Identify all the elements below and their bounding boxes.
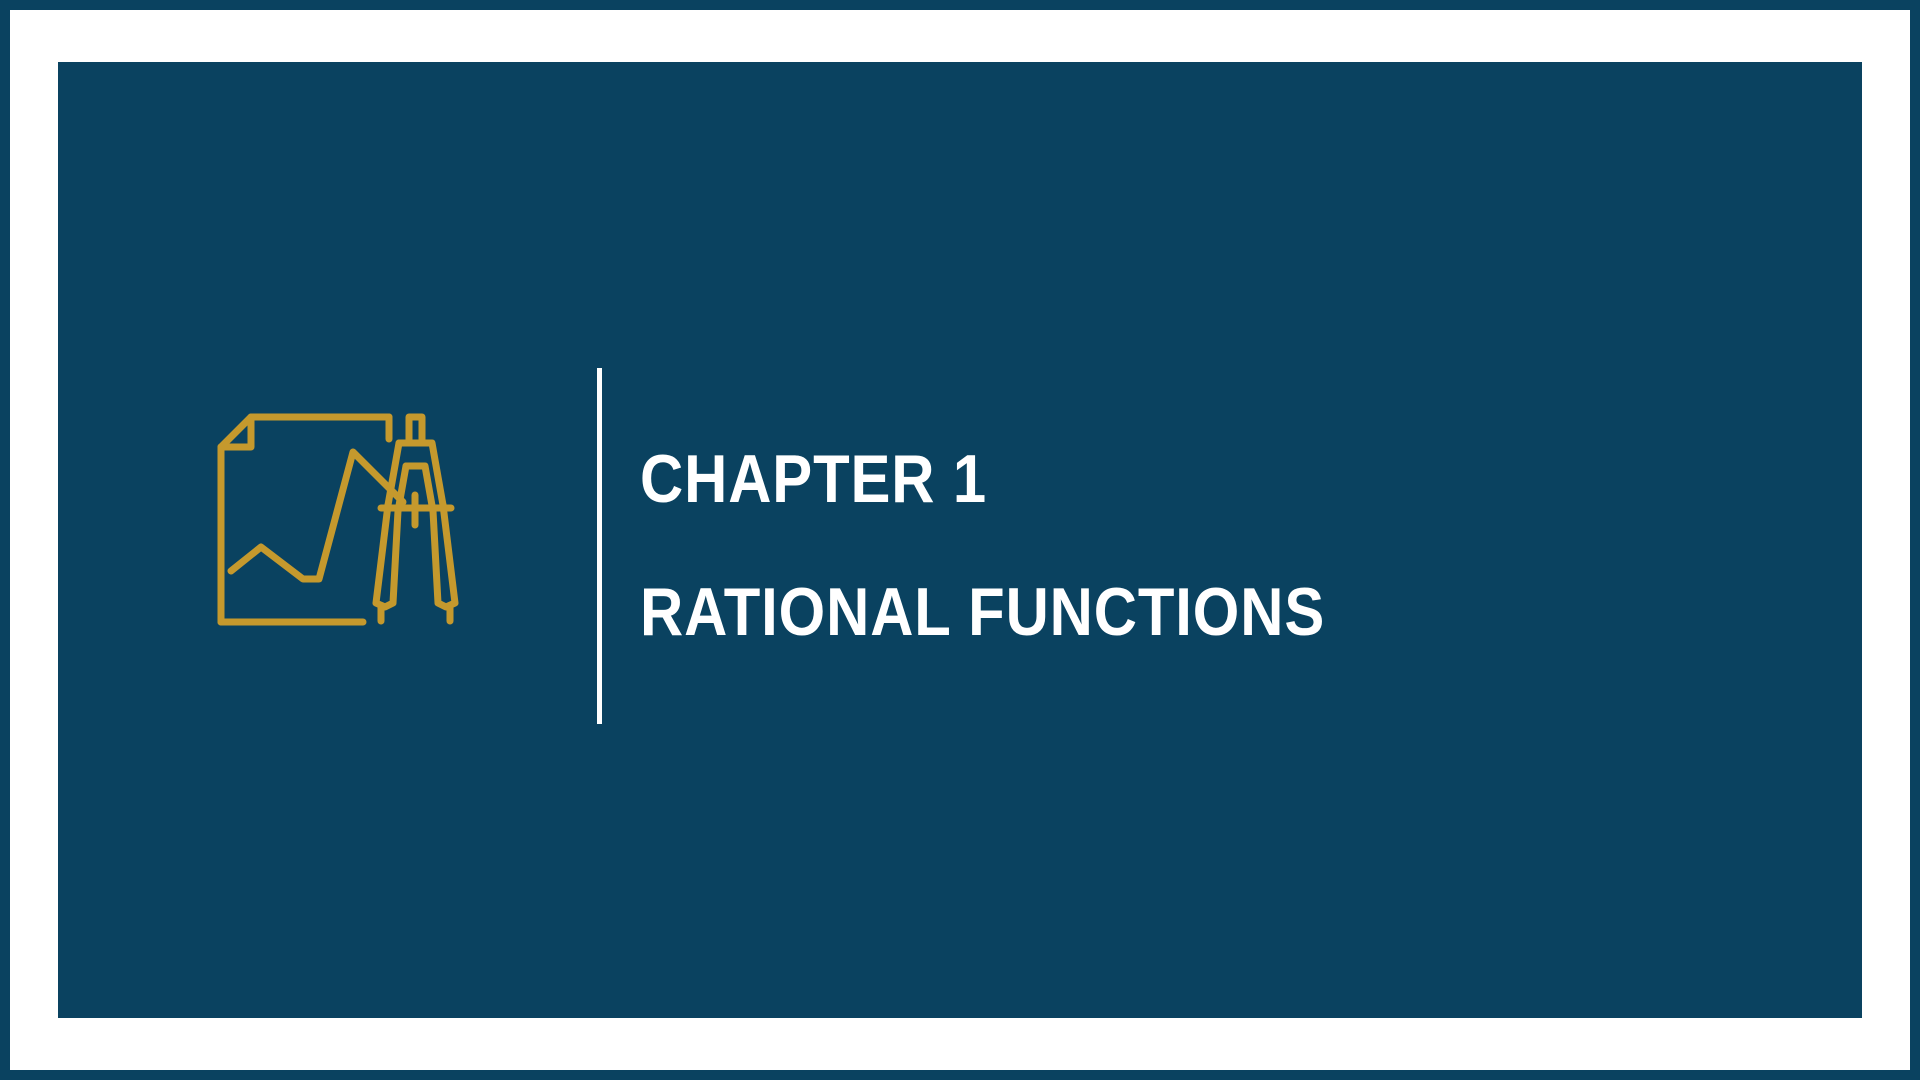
document-outline — [221, 417, 389, 622]
document-chart-compass-icon — [213, 407, 473, 652]
drafting-compass — [376, 417, 455, 621]
chapter-label: CHAPTER 1 — [640, 445, 1652, 514]
vertical-rule — [597, 368, 602, 724]
slide-content: CHAPTER 1 RATIONAL FUNCTIONS — [58, 62, 1862, 1018]
chapter-name: RATIONAL FUNCTIONS — [640, 578, 1652, 647]
slide-inner-panel: CHAPTER 1 RATIONAL FUNCTIONS — [58, 62, 1862, 1018]
slide-root: CHAPTER 1 RATIONAL FUNCTIONS — [0, 0, 1920, 1080]
chart-line — [231, 452, 403, 579]
title-block: CHAPTER 1 RATIONAL FUNCTIONS — [640, 368, 1790, 724]
